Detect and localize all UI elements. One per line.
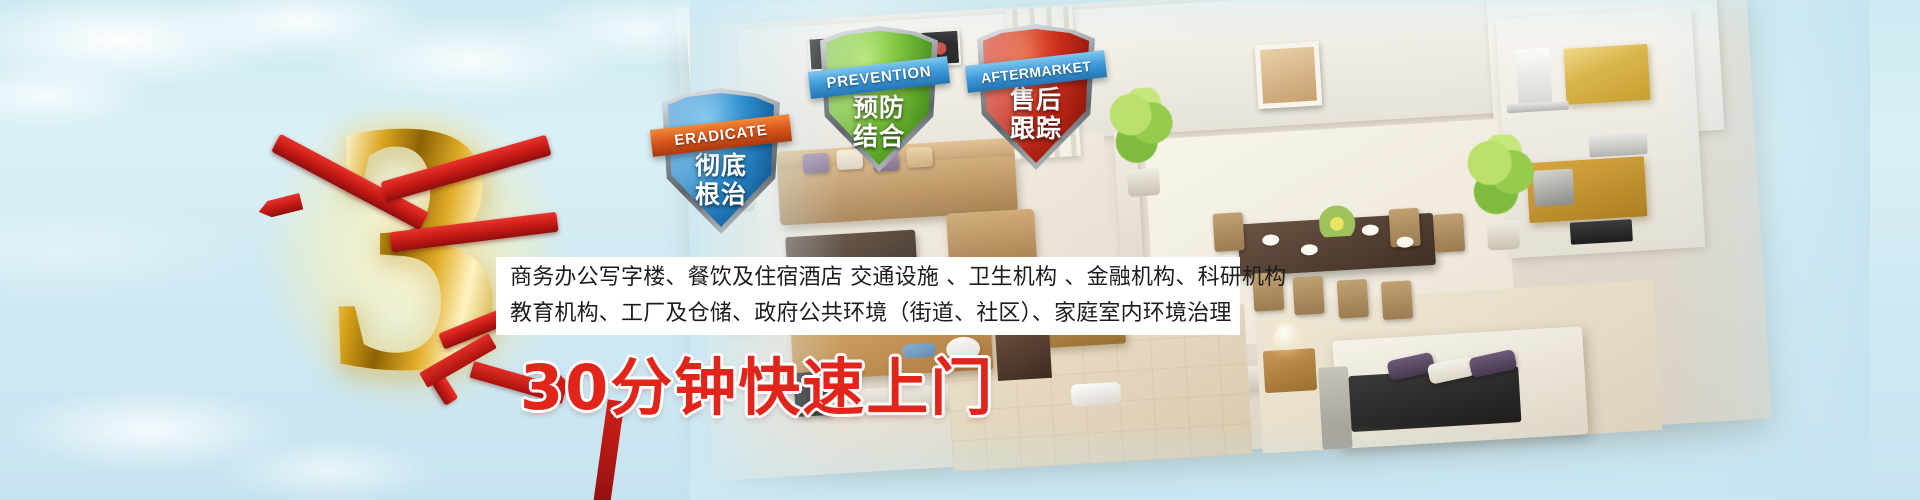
nightstand <box>1263 348 1317 393</box>
dining-chair <box>1433 213 1465 253</box>
badge-banner-text: ERADICATE <box>674 122 769 149</box>
service-scope-line-2: 教育机构、工厂及仓储、政府公共环境（街道、社区）、家庭室内环境治理 <box>510 296 1226 332</box>
badge-cn-line-1: 预防 <box>820 94 938 123</box>
dining-chair <box>1381 280 1413 320</box>
badge-chinese-text: 彻底 根治 <box>662 152 780 210</box>
service-scope-panel: 商务办公写字楼、餐饮及住宿酒店 交通设施 、卫生机构 、金融机构、科研机构 教育… <box>496 257 1240 335</box>
range-hood <box>1515 48 1552 106</box>
potted-plant <box>1458 133 1543 257</box>
potted-plant <box>1101 86 1182 202</box>
kitchen-upper-cabinet <box>1563 44 1650 105</box>
plant-pot <box>1127 168 1160 197</box>
badge-cn-line-2: 跟踪 <box>977 115 1095 144</box>
cooktop <box>1570 219 1633 245</box>
service-scope-line-1: 商务办公写字楼、餐饮及住宿酒店 交通设施 、卫生机构 、金融机构、科研机构 <box>510 260 1226 296</box>
plant-pot <box>1486 220 1520 251</box>
promo-banner: 3 彻底 根治 ERADICATE 预防 结合 PREVENTIO <box>0 0 1920 500</box>
dining-chair <box>1213 212 1245 252</box>
table-centerpiece <box>1318 203 1364 238</box>
kitchen-sink <box>1589 132 1648 157</box>
badge-aftermarket[interactable]: 售后 跟踪 AFTERMARKET <box>977 24 1095 170</box>
badge-cn-line-2: 根治 <box>662 181 780 210</box>
wash-basin <box>1070 382 1121 407</box>
plant-foliage <box>1458 133 1541 224</box>
dining-chair <box>1337 279 1369 319</box>
badge-cn-line-2: 结合 <box>820 123 938 152</box>
bed-headboard <box>1318 366 1353 450</box>
badge-eradicate[interactable]: 彻底 根治 ERADICATE <box>662 88 780 234</box>
plant-foliage <box>1101 86 1180 171</box>
wall-portrait-painting <box>1255 41 1323 109</box>
badge-prevention[interactable]: 预防 结合 PREVENTION <box>820 26 938 172</box>
badge-cn-line-1: 售后 <box>977 86 1095 115</box>
badge-chinese-text: 售后 跟踪 <box>977 86 1095 144</box>
badge-chinese-text: 预防 结合 <box>820 94 938 152</box>
headline-text: 30分钟快速上门 <box>520 352 994 424</box>
badge-cn-line-1: 彻底 <box>662 152 780 181</box>
dining-chair <box>1292 276 1324 316</box>
